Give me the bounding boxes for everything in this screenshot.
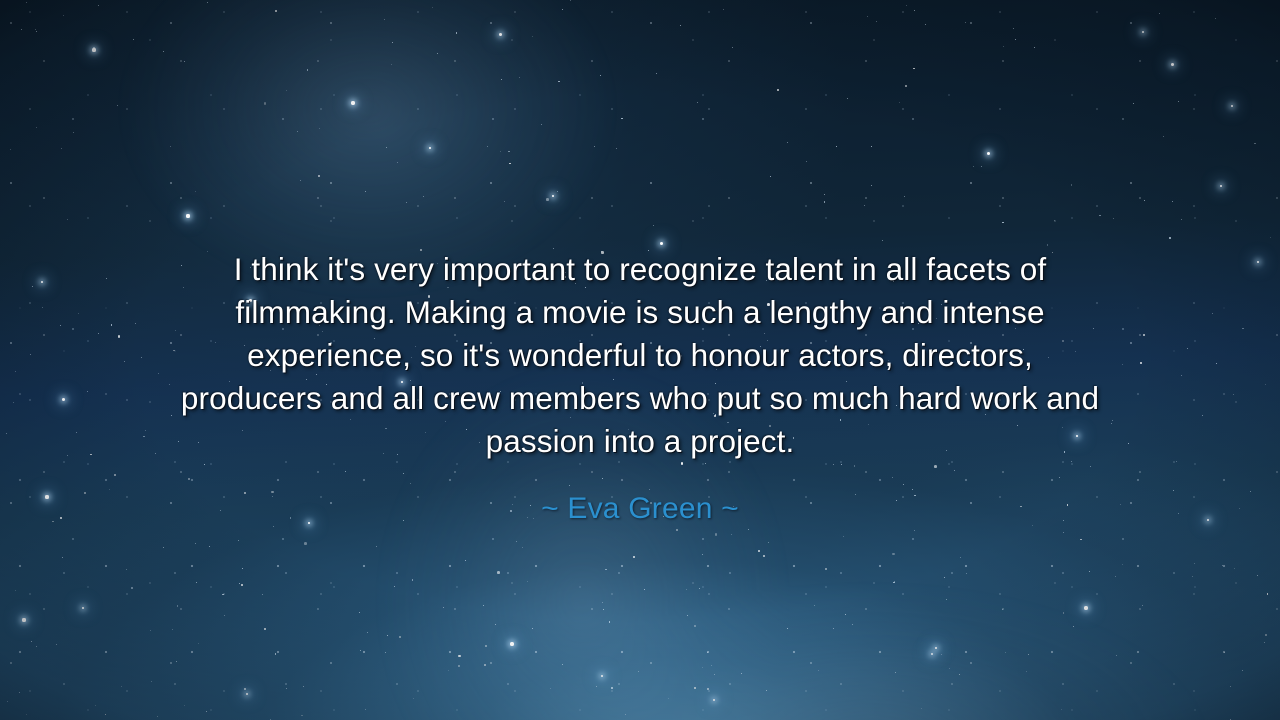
- quote-text: I think it's very important to recognize…: [56, 248, 1224, 463]
- quote-image-canvas: I think it's very important to recognize…: [0, 0, 1280, 720]
- quote-block: I think it's very important to recognize…: [0, 248, 1280, 526]
- quote-attribution: ~ Eva Green ~: [56, 463, 1224, 526]
